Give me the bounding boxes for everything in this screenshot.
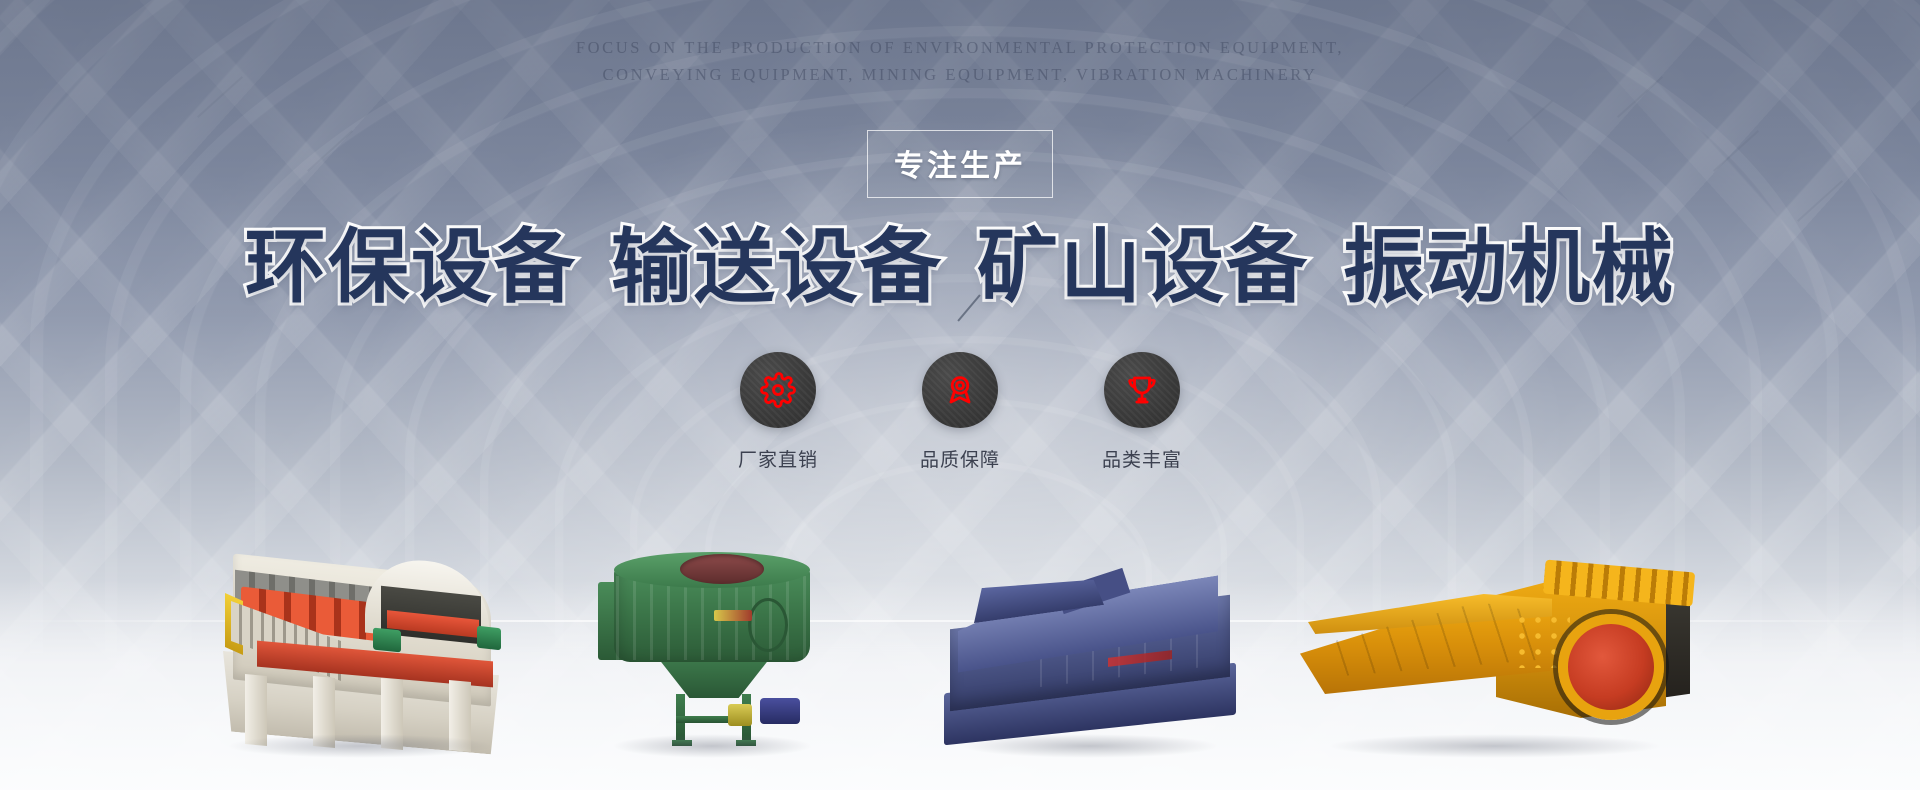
machine-green-mixer	[596, 548, 828, 748]
eyebrow-line-2: CONVEYING EQUIPMENT, MINING EQUIPMENT, V…	[0, 61, 1920, 88]
feature-list: 厂家直销 品质保障	[723, 352, 1197, 472]
feature-item-quality-assurance[interactable]: 品质保障	[905, 352, 1015, 472]
focus-production-badge: 专注生产	[867, 130, 1053, 198]
medal-icon	[942, 372, 978, 408]
gear-icon	[760, 372, 796, 408]
headline-part-3: 矿山设备	[977, 223, 1309, 313]
eyebrow-line-1: FOCUS ON THE PRODUCTION OF ENVIRONMENTAL…	[0, 34, 1920, 61]
feature-item-factory-direct[interactable]: 厂家直销	[723, 352, 833, 472]
feature-icon-circle	[1104, 352, 1180, 428]
feature-icon-circle	[740, 352, 816, 428]
feature-icon-circle	[922, 352, 998, 428]
headline-part-1: 环保设备	[245, 223, 577, 313]
feature-label: 品质保障	[905, 445, 1015, 472]
eyebrow-subtitle: FOCUS ON THE PRODUCTION OF ENVIRONMENTAL…	[0, 34, 1920, 88]
page-title: 环保设备输送设备矿山设备振动机械	[0, 202, 1920, 319]
machine-blue-vibrating-screen	[940, 578, 1240, 748]
feature-item-rich-categories[interactable]: 品类丰富	[1087, 352, 1197, 472]
hero-banner: FOCUS ON THE PRODUCTION OF ENVIRONMENTAL…	[0, 0, 1920, 790]
feature-label: 品类丰富	[1087, 445, 1197, 472]
badge-container: 专注生产	[0, 130, 1920, 198]
machine-conveyor-screen	[205, 543, 515, 748]
headline-part-4: 振动机械	[1343, 223, 1675, 313]
machine-gallery	[0, 490, 1920, 790]
headline-part-2: 输送设备	[611, 223, 943, 313]
trophy-icon	[1124, 372, 1160, 408]
machine-yellow-feeder-crusher	[1300, 538, 1690, 748]
feature-label: 厂家直销	[723, 445, 833, 472]
banner-content: FOCUS ON THE PRODUCTION OF ENVIRONMENTAL…	[0, 0, 1920, 790]
